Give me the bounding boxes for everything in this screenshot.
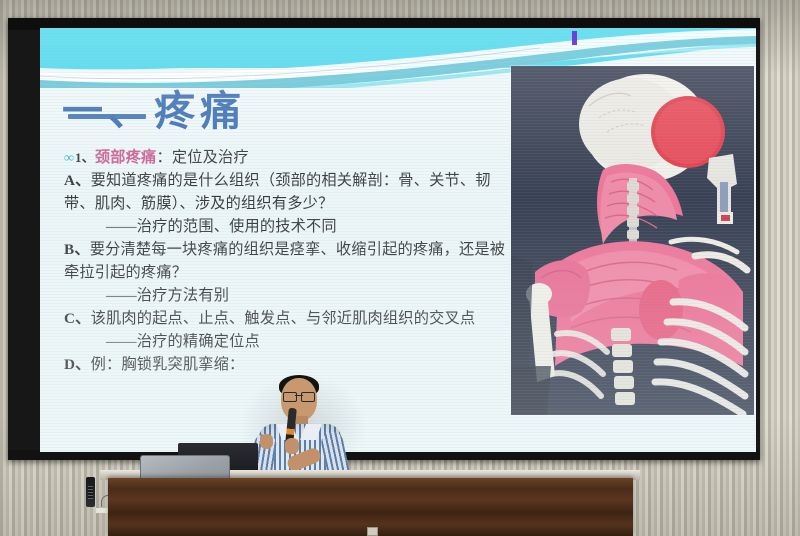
anatomy-illustration (511, 66, 754, 415)
item-c: C、该肌肉的起点、止点、触发点、与邻近肌肉组织的交叉点 (64, 307, 514, 330)
item-c-label: C、 (64, 310, 91, 327)
floor-object (367, 527, 378, 536)
bullet-keyword: 颈部疼痛 (95, 149, 157, 166)
decorative-bullet-icon: ∞ (64, 151, 73, 166)
presenter-hand-holding-mic (285, 438, 299, 454)
projector-artifact-mark (572, 31, 577, 45)
bullet-number: 1、 (75, 150, 95, 165)
glasses-bridge (295, 395, 303, 396)
item-a-label: A、 (64, 172, 91, 189)
remote-buttons[interactable] (88, 486, 93, 499)
bullet-line-1: ∞1、颈部疼痛：定位及治疗 (64, 146, 514, 169)
item-c-note: ——治疗的精确定位点 (64, 330, 514, 353)
item-d-label: D、 (64, 356, 91, 373)
presentation-slide: 一、疼痛 ∞1、颈部疼痛：定位及治疗 A、要知道疼痛的是什么组织（颈部的相关解剖… (40, 28, 756, 452)
item-a: A、要知道疼痛的是什么组织（颈部的相关解剖：骨、关节、韧带、肌肉、筋膜）、涉及的… (64, 169, 514, 215)
slide-title: 一、疼痛 (62, 90, 422, 133)
item-b-note: ——治疗方法有别 (64, 284, 514, 307)
lecture-photo-scene: 一、疼痛 ∞1、颈部疼痛：定位及治疗 A、要知道疼痛的是什么组织（颈部的相关解剖… (0, 0, 800, 536)
glasses-icon (283, 392, 315, 400)
item-d-text: 例：胸锁乳突肌挛缩： (91, 356, 245, 373)
item-b: B、要分清楚每一块疼痛的组织是痉挛、收缩引起的疼痛，还是被牵拉引起的疼痛？ (64, 238, 514, 284)
item-b-text: 要分清楚每一块疼痛的组织是痉挛、收缩引起的疼痛，还是被牵拉引起的疼痛？ (64, 241, 505, 281)
presenter-hand-left (260, 434, 273, 449)
item-a-note: ——治疗的范围、使用的技术不同 (64, 215, 514, 238)
item-b-label: B、 (64, 241, 90, 258)
slide-body-text: ∞1、颈部疼痛：定位及治疗 A、要知道疼痛的是什么组织（颈部的相关解剖：骨、关节… (64, 146, 514, 376)
item-d: D、例：胸锁乳突肌挛缩： (64, 353, 514, 376)
bullet-rest: ：定位及治疗 (156, 149, 248, 166)
item-a-text: 要知道疼痛的是什么组织（颈部的相关解剖：骨、关节、韧带、肌肉、筋膜）、涉及的组织… (64, 172, 491, 212)
item-c-text: 该肌肉的起点、止点、触发点、与邻近肌肉组织的交叉点 (91, 310, 476, 327)
